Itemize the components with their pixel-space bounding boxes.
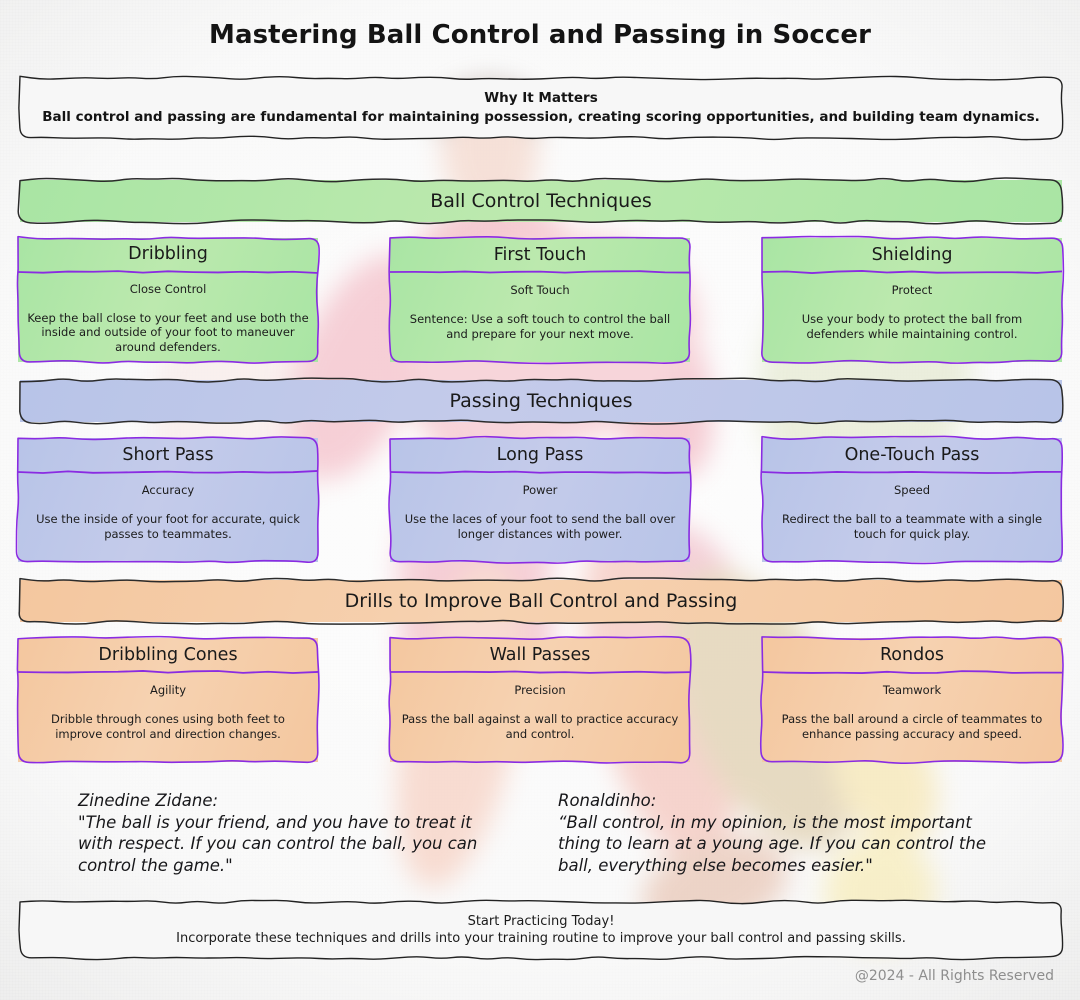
page-title: Mastering Ball Control and Passing in So… bbox=[0, 20, 1080, 50]
cta-heading: Start Practicing Today! bbox=[468, 913, 615, 930]
why-it-matters-text: Ball control and passing are fundamental… bbox=[42, 108, 1040, 127]
section-banner-passing: Passing Techniques bbox=[20, 380, 1062, 422]
card-passing-1[interactable]: Long PassPowerUse the laces of your foot… bbox=[390, 438, 690, 562]
quote-zinedine-zidane: Zinedine Zidane: "The ball is your frien… bbox=[78, 790, 508, 876]
card-drills-2[interactable]: RondosTeamworkPass the ball around a cir… bbox=[762, 638, 1062, 762]
card-title: Long Pass bbox=[497, 438, 584, 471]
card-description: Use the inside of your foot for accurate… bbox=[27, 512, 309, 541]
quote-text: "The ball is your friend, and you have t… bbox=[78, 812, 508, 877]
card-description: Redirect the ball to a teammate with a s… bbox=[771, 512, 1053, 541]
card-title: Dribbling bbox=[128, 238, 208, 270]
card-ball-control-2[interactable]: ShieldingProtectUse your body to protect… bbox=[762, 238, 1062, 362]
card-subtitle: Speed bbox=[894, 483, 930, 498]
card-description: Pass the ball against a wall to practice… bbox=[399, 712, 681, 741]
card-subtitle: Teamwork bbox=[883, 683, 941, 698]
card-description: Pass the ball around a circle of teammat… bbox=[771, 712, 1053, 741]
card-title: Rondos bbox=[880, 638, 944, 671]
quote-ronaldinho: Ronaldinho: “Ball control, in my opinion… bbox=[558, 790, 1018, 876]
quote-text: “Ball control, in my opinion, is the mos… bbox=[558, 812, 1018, 877]
card-title: Wall Passes bbox=[490, 638, 591, 671]
card-subtitle: Agility bbox=[150, 683, 186, 698]
card-subtitle: Close Control bbox=[130, 282, 207, 297]
card-description: Sentence: Use a soft touch to control th… bbox=[399, 312, 681, 341]
card-title: First Touch bbox=[494, 238, 587, 271]
copyright-notice: @2024 - All Rights Reserved bbox=[855, 968, 1054, 984]
card-subtitle: Power bbox=[523, 483, 558, 498]
quote-author: Ronaldinho: bbox=[558, 790, 1018, 812]
card-description: Use the laces of your foot to send the b… bbox=[399, 512, 681, 541]
card-passing-0[interactable]: Short PassAccuracyUse the inside of your… bbox=[18, 438, 318, 562]
card-passing-2[interactable]: One-Touch PassSpeedRedirect the ball to … bbox=[762, 438, 1062, 562]
card-subtitle: Soft Touch bbox=[510, 283, 569, 298]
infographic-canvas: Mastering Ball Control and Passing in So… bbox=[0, 0, 1080, 1000]
section-banner-ball-control: Ball Control Techniques bbox=[20, 180, 1062, 222]
why-it-matters-box: Why It Matters Ball control and passing … bbox=[20, 78, 1062, 138]
section-banner-label: Passing Techniques bbox=[449, 390, 632, 412]
card-drills-1[interactable]: Wall PassesPrecisionPass the ball agains… bbox=[390, 638, 690, 762]
section-banner-label: Drills to Improve Ball Control and Passi… bbox=[345, 590, 738, 612]
why-it-matters-heading: Why It Matters bbox=[484, 90, 597, 107]
quote-author: Zinedine Zidane: bbox=[78, 790, 508, 812]
card-drills-0[interactable]: Dribbling ConesAgilityDribble through co… bbox=[18, 638, 318, 762]
card-title: Short Pass bbox=[122, 438, 213, 471]
cta-text: Incorporate these techniques and drills … bbox=[176, 930, 906, 948]
section-banner-drills: Drills to Improve Ball Control and Passi… bbox=[20, 580, 1062, 622]
card-subtitle: Accuracy bbox=[142, 483, 195, 498]
card-title: Dribbling Cones bbox=[98, 638, 237, 671]
card-ball-control-1[interactable]: First TouchSoft TouchSentence: Use a sof… bbox=[390, 238, 690, 362]
card-description: Keep the ball close to your feet and use… bbox=[27, 311, 309, 355]
section-banner-label: Ball Control Techniques bbox=[430, 190, 652, 212]
card-subtitle: Precision bbox=[514, 683, 565, 698]
card-title: One-Touch Pass bbox=[845, 438, 980, 471]
card-description: Use your body to protect the ball from d… bbox=[771, 312, 1053, 341]
card-title: Shielding bbox=[872, 238, 953, 271]
card-description: Dribble through cones using both feet to… bbox=[27, 712, 309, 741]
card-ball-control-0[interactable]: DribblingClose ControlKeep the ball clos… bbox=[18, 238, 318, 362]
call-to-action-box: Start Practicing Today! Incorporate thes… bbox=[20, 902, 1062, 958]
card-subtitle: Protect bbox=[892, 283, 933, 298]
